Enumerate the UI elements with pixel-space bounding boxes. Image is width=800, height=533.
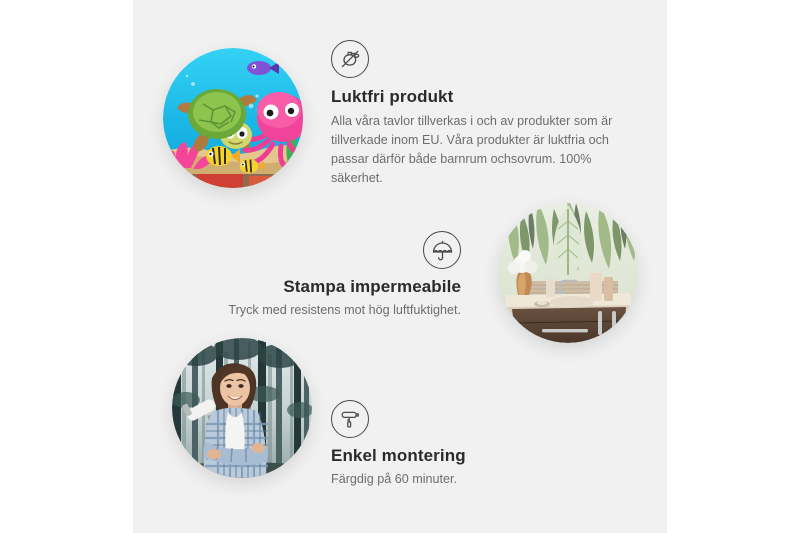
feature-easy-mounting: Enkel montering Färgdig på 60 minuter. [331,400,631,489]
feature-title: Luktfri produkt [331,87,631,107]
product-photo-bathroom [498,203,638,343]
promo-canvas: Luktfri produkt Alla våra tavlor tillver… [0,0,800,533]
paint-roller-icon [331,400,369,438]
product-photo-aquarium [163,48,303,188]
feature-waterproof: Stampa impermeabile Tryck med resistens … [160,231,461,320]
feature-odourless: Luktfri produkt Alla våra tavlor tillver… [331,40,631,189]
feature-body: Färgdig på 60 minuter. [331,470,631,489]
product-photo-painter [172,338,312,478]
feature-title: Stampa impermeabile [160,277,461,297]
no-fragrance-icon [331,40,369,78]
feature-title: Enkel montering [331,446,631,466]
feature-body: Alla våra tavlor tillverkas i och av pro… [331,112,631,189]
feature-body: Tryck med resistens mot hög luftfuktighe… [160,301,461,320]
umbrella-icon [423,231,461,269]
